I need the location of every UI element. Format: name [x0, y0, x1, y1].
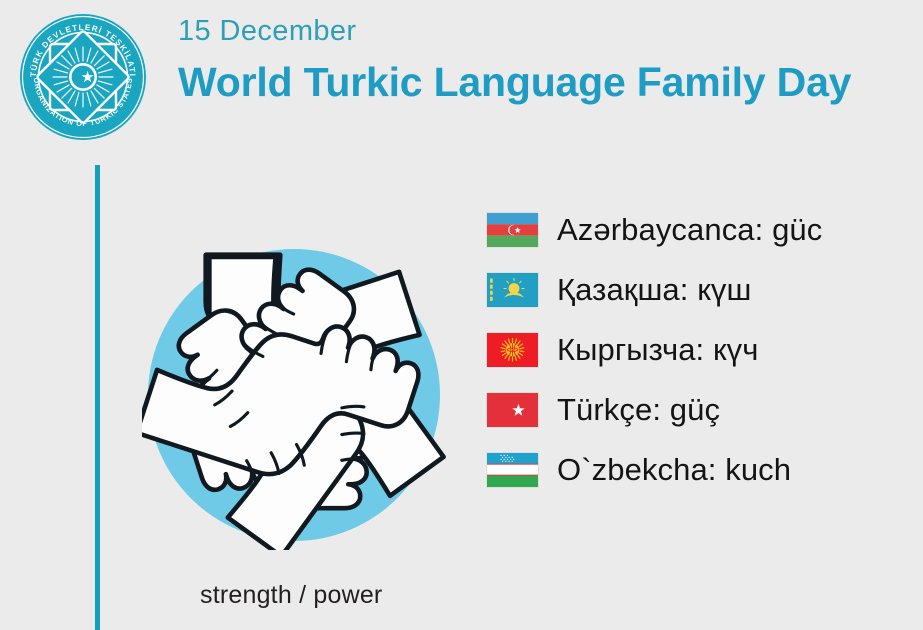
vertical-accent-rule	[95, 165, 100, 630]
flag-turkey-icon	[487, 393, 538, 427]
flag-uzbekistan-icon	[487, 453, 538, 487]
list-item: Кыргызча: күч	[487, 327, 907, 373]
header-text-block: 15 December World Turkic Language Family…	[178, 14, 908, 106]
organization-of-turkic-states-seal-icon: TÜRK DEVLETLERİ TEŞKİLATI ORGANIZATION O…	[18, 12, 148, 142]
flag-kazakhstan-icon	[487, 273, 538, 307]
language-label: O`zbekcha: kuch	[557, 452, 791, 488]
language-list: Azərbaycanca: güc	[487, 207, 907, 493]
flag-azerbaijan-icon	[487, 213, 538, 247]
language-label: Türkçe: güç	[557, 392, 720, 428]
list-item: Azərbaycanca: güc	[487, 207, 907, 253]
poster-canvas: TÜRK DEVLETLERİ TEŞKİLATI ORGANIZATION O…	[0, 0, 923, 630]
language-label: Кыргызча: күч	[557, 332, 758, 368]
event-date: 15 December	[178, 14, 908, 48]
page-title: World Turkic Language Family Day	[178, 59, 908, 106]
list-item: Қазақша: күш	[487, 267, 907, 313]
flag-kyrgyzstan-icon	[487, 333, 538, 367]
list-item: O`zbekcha: kuch	[487, 447, 907, 493]
language-label: Azərbaycanca: güc	[557, 212, 822, 248]
poster-header: TÜRK DEVLETLERİ TEŞKİLATI ORGANIZATION O…	[0, 0, 923, 150]
illustration-caption: strength / power	[200, 580, 382, 610]
interlocking-hands-illustration-icon	[142, 240, 447, 550]
language-label: Қазақша: күш	[557, 272, 751, 308]
list-item: Türkçe: güç	[487, 387, 907, 433]
